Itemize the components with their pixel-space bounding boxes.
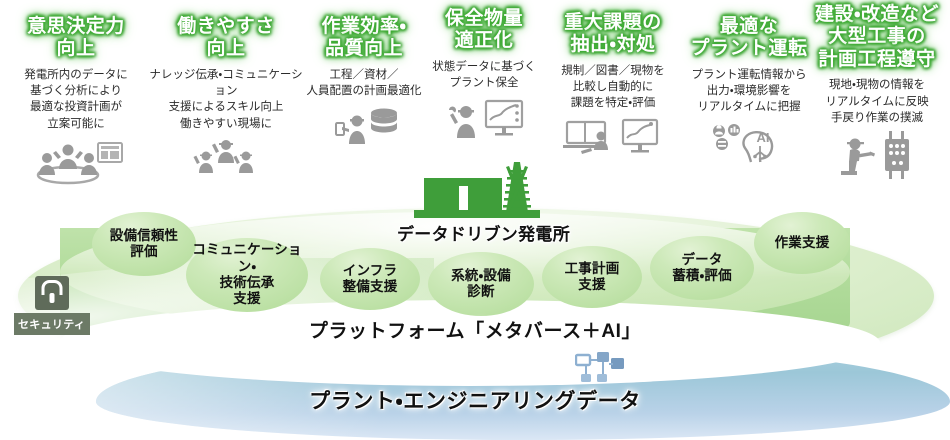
bubble-label: 設備信頼性 評価 <box>110 228 179 261</box>
bubble-label: コミュニケーション・ 技術伝承 支援 <box>186 242 308 308</box>
bubble-label: データ 蓄積・評価 <box>672 252 732 285</box>
column-subtext: 発電所内のデータに 基づく分析により 最適な投資計画が 立案可能に <box>2 67 150 132</box>
bubble-construction-plan[interactable]: 工事計画 支援 <box>542 246 642 308</box>
power-plant-block: データドリブン発電所 <box>397 156 557 247</box>
bubble-reliability[interactable]: 設備信頼性 評価 <box>92 212 196 276</box>
ai-head-icon: AI <box>682 121 816 169</box>
column-workability: 働きやすさ 向上 ナレッジ伝承・コミュニケーション 支援によるスキル向上 働きや… <box>148 16 304 181</box>
power-plant-icon <box>397 156 557 222</box>
desk-monitor-chart-icon <box>537 117 689 159</box>
worker-valve-icon <box>804 131 950 179</box>
column-subtext: 規制／図書／現物を 比較し自動的に 課題を特定・評価 <box>537 63 689 112</box>
bubble-label: 系統・設備 診断 <box>451 268 511 301</box>
bubble-work-support[interactable]: 作業支援 <box>754 212 850 274</box>
column-headline: 保全物量 適正化 <box>414 8 554 53</box>
column-operation: 最適な プラント運転 プラント運転情報から 出力・環境影響を リアルタイムに把握 <box>682 16 816 169</box>
column-headline: 働きやすさ 向上 <box>148 16 304 61</box>
plant-title: データドリブン発電所 <box>397 220 557 245</box>
column-headline: 意思決定力 向上 <box>2 16 150 61</box>
column-subtext: 状態データに基づく プラント保全 <box>414 59 554 92</box>
bubble-data[interactable]: データ 蓄積・評価 <box>650 236 754 300</box>
security-badge: セキュリティ <box>14 276 90 335</box>
column-subtext: 現地・現物の情報を リアルタイムに反映 手戻り作業の撲滅 <box>804 77 950 126</box>
column-subtext: ナレッジ伝承・コミュニケーション 支援によるスキル向上 働きやすい現場に <box>148 67 304 132</box>
bubble-label: インフラ 整備支援 <box>343 263 398 296</box>
network-nodes-icon <box>575 352 629 386</box>
column-headline: 最適な プラント運転 <box>682 16 816 61</box>
meeting-table-icon <box>2 137 150 185</box>
infographic-canvas: 意思決定力 向上 発電所内のデータに 基づく分析により 最適な投資計画が 立案可… <box>0 0 950 440</box>
data-band-label: プラント・エンジニアリングデータ <box>0 385 950 415</box>
column-headline: 建設・改造など 大型工事の 計画工程遵守 <box>804 4 950 71</box>
column-issues: 重大課題の 抽出・対処 規制／図書／現物を 比較し自動的に 課題を特定・評価 <box>537 12 689 159</box>
column-construction: 建設・改造など 大型工事の 計画工程遵守 現地・現物の情報を リアルタイムに反映… <box>804 4 950 179</box>
padlock-icon <box>35 276 69 310</box>
column-decision: 意思決定力 向上 発電所内のデータに 基づく分析により 最適な投資計画が 立案可… <box>2 16 150 185</box>
platform-label: プラットフォーム「メタバース＋AI」 <box>0 316 950 343</box>
bubble-label: 作業支援 <box>775 235 830 251</box>
bubble-communication[interactable]: コミュニケーション・ 技術伝承 支援 <box>186 238 308 312</box>
bubble-diagnosis[interactable]: 系統・設備 診断 <box>428 252 534 316</box>
svg-text:AI: AI <box>757 130 770 145</box>
column-subtext: プラント運転情報から 出力・環境影響を リアルタイムに把握 <box>682 67 816 116</box>
column-headline: 重大課題の 抽出・対処 <box>537 12 689 57</box>
security-label: セキュリティ <box>14 313 90 335</box>
bubble-label: 工事計画 支援 <box>565 261 620 294</box>
column-maintenance: 保全物量 適正化 状態データに基づく プラント保全 <box>414 8 554 142</box>
three-workers-icon <box>148 137 304 181</box>
worker-monitor-chart-icon <box>414 96 554 142</box>
bubble-infrastructure[interactable]: インフラ 整備支援 <box>320 248 420 310</box>
